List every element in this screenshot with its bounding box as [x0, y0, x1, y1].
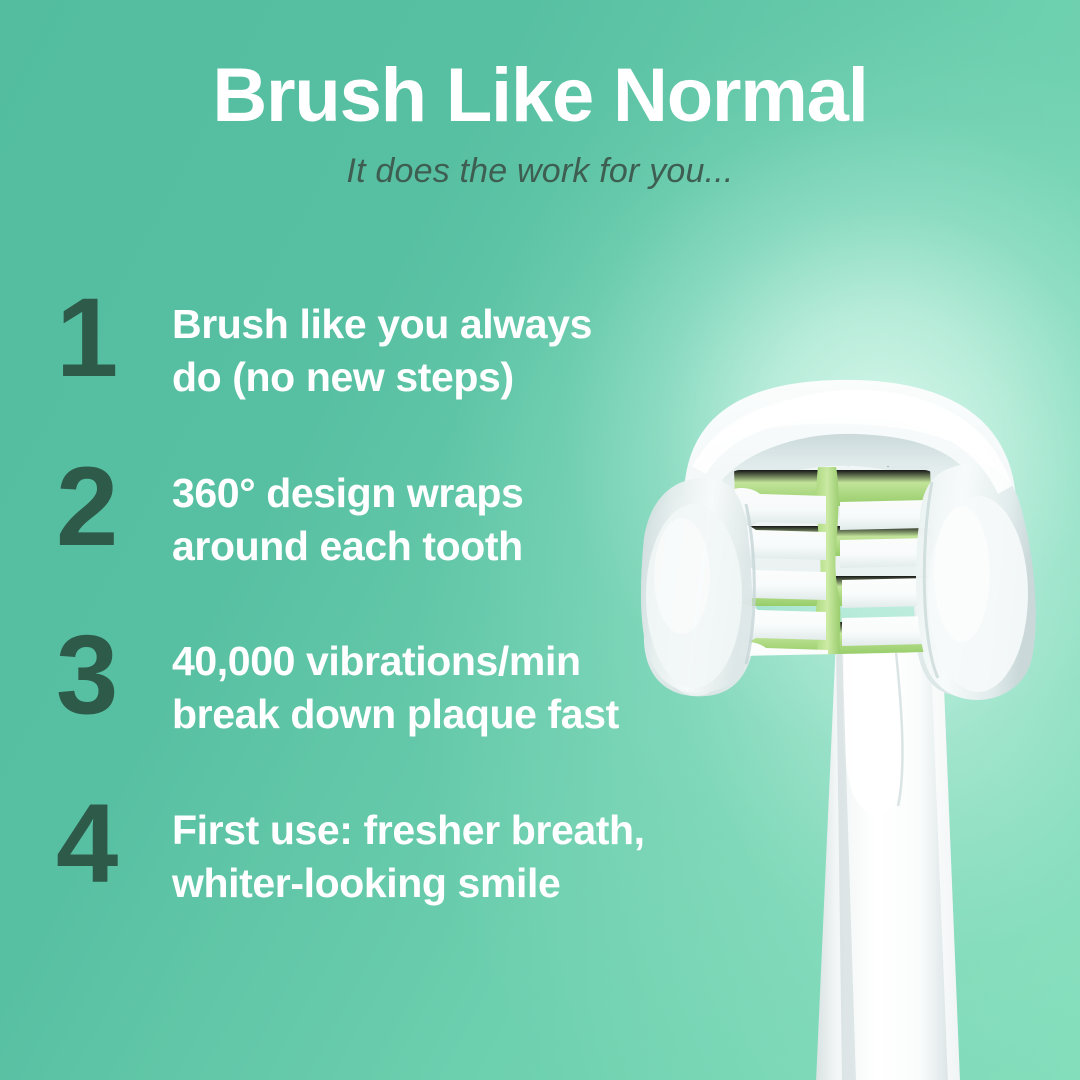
brush-handle — [816, 638, 960, 1080]
step-number-1: 1 — [56, 286, 172, 389]
list-item: 2 360° design wraps around each tooth — [56, 461, 756, 574]
step-line: whiter-looking smile — [172, 857, 756, 910]
step-line: Brush like you always — [172, 298, 756, 351]
step-text-3: 40,000 vibrations/min break down plaque … — [172, 629, 756, 742]
page-title: Brush Like Normal — [0, 0, 1080, 134]
list-item: 3 40,000 vibrations/min break down plaqu… — [56, 629, 756, 742]
list-item: 4 First use: fresher breath, whiter-look… — [56, 798, 756, 911]
green-bristle-stripes — [726, 466, 938, 662]
step-number-4: 4 — [56, 792, 172, 895]
step-line: around each tooth — [172, 520, 756, 573]
step-number-3: 3 — [56, 623, 172, 726]
step-line: break down plaque fast — [172, 688, 756, 741]
step-line: 360° design wraps — [172, 467, 756, 520]
step-line: do (no new steps) — [172, 351, 756, 404]
step-text-1: Brush like you always do (no new steps) — [172, 292, 756, 405]
steps-list: 1 Brush like you always do (no new steps… — [56, 292, 756, 910]
step-text-4: First use: fresher breath, whiter-lookin… — [172, 798, 756, 911]
poster-canvas: Brush Like Normal It does the work for y… — [0, 0, 1080, 1080]
step-line: 40,000 vibrations/min — [172, 635, 756, 688]
header-block: Brush Like Normal It does the work for y… — [0, 0, 1080, 191]
page-subtitle: It does the work for you... — [0, 134, 1080, 191]
step-text-2: 360° design wraps around each tooth — [172, 461, 756, 574]
step-number-2: 2 — [56, 455, 172, 558]
step-line: First use: fresher breath, — [172, 804, 756, 857]
list-item: 1 Brush like you always do (no new steps… — [56, 292, 756, 405]
